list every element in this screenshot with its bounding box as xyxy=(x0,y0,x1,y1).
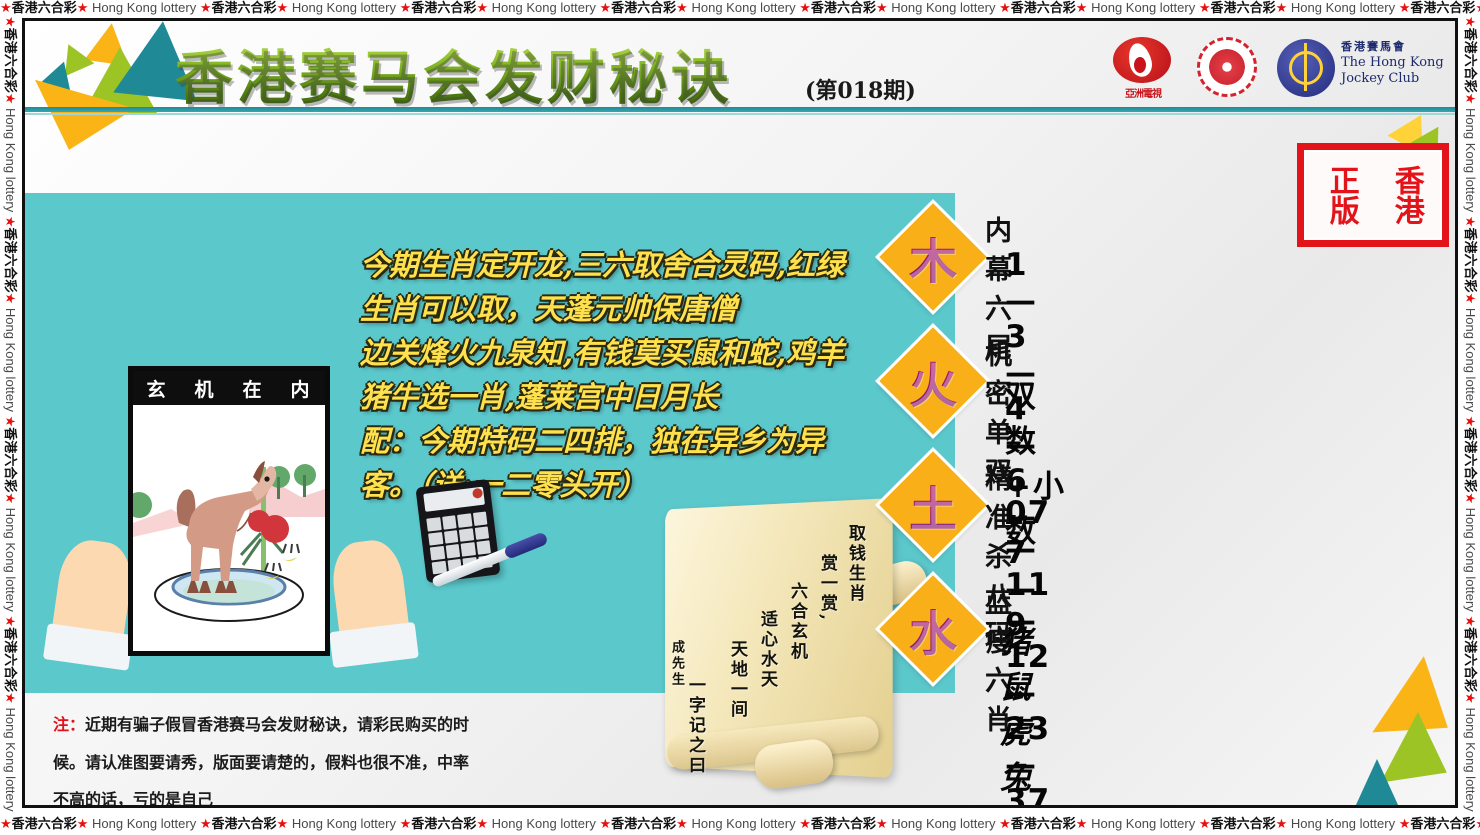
marquee-right-text: ★香港六合彩★ Hong Kong lottery ★香港六合彩★ Hong K… xyxy=(1460,16,1480,813)
scroll-col-3: 六合玄机 xyxy=(785,582,810,662)
seal-text-right: 香港 xyxy=(1373,154,1438,236)
header-rule-light xyxy=(25,113,1455,115)
poem-line-4: 猪牛选一肖,蓬莱宫中日月长 xyxy=(360,375,900,419)
row-value-water: 猪鼠虎兔龙猴 xyxy=(1000,617,1033,808)
element-badge-water: 水 xyxy=(879,575,986,682)
issue-number: (第018期) xyxy=(805,73,916,105)
element-badge-wood-char: 木 xyxy=(895,219,971,295)
atv-logo: 亞洲電視 xyxy=(1105,37,1181,99)
lottery-picture-card[interactable]: 玄 机 在 内 xyxy=(128,366,330,656)
header-rule xyxy=(25,107,1455,112)
poem-line-3: 边关烽火九泉知,有钱莫买鼠和蛇,鸡羊 xyxy=(360,331,900,375)
jockey-club-logo: 香港賽馬會 The Hong Kong Jockey Club xyxy=(1277,37,1447,101)
poem-line-2: 生肖可以取，天蓬元帅保唐僧 xyxy=(360,287,900,331)
element-badge-fire-char: 火 xyxy=(895,343,971,419)
seal-right-chars: 香港 xyxy=(1390,165,1421,225)
seal-left-chars: 正版 xyxy=(1325,165,1356,225)
page-title: 香港赛马会发财秘诀 xyxy=(175,31,733,115)
jockey-club-en2: Jockey Club xyxy=(1341,71,1444,87)
seal-text-left: 正版 xyxy=(1308,154,1373,236)
marquee-right: ★香港六合彩★ Hong Kong lottery ★香港六合彩★ Hong K… xyxy=(1460,16,1480,813)
poster-card: 香港赛马会发财秘诀 (第018期) 亞洲電視 香港賽馬會 xyxy=(22,18,1458,808)
scroll-col-2: 赏一赏, xyxy=(815,554,840,623)
pic-hdr-char-1: 玄 xyxy=(146,375,167,402)
scroll-col-5: 天地一间 xyxy=(725,640,750,720)
element-badge-earth-char: 土 xyxy=(895,467,971,543)
warning-note: 注：近期有骗子假冒香港赛马会发财秘诀，请彩民购买的时 候。请认准图要请秀，版面要… xyxy=(53,707,673,808)
scroll-signature: 成先生 xyxy=(667,640,686,688)
atv-label: 亞洲電視 xyxy=(1105,85,1181,100)
poem-line-5: 配：今期特码二四排，独在异乡为异 xyxy=(360,419,900,463)
marquee-bottom-text: ★香港六合彩★ Hong Kong lottery ★香港六合彩★ Hong K… xyxy=(0,816,1480,831)
marquee-top-text: ★香港六合彩★ Hong Kong lottery ★香港六合彩★ Hong K… xyxy=(0,0,1480,15)
deco-triangle-teal-br xyxy=(1355,759,1399,807)
picture-card-header: 玄 机 在 内 xyxy=(133,371,325,405)
pic-hdr-char-2: 机 xyxy=(194,375,215,402)
horse-drawing-svg xyxy=(133,405,325,651)
authenticity-seal: 正版 香港 xyxy=(1297,143,1449,247)
scroll-col-1: 取钱生肖 xyxy=(843,524,868,604)
marquee-left: ★香港六合彩★ Hong Kong lottery ★香港六合彩★ Hong K… xyxy=(0,16,20,813)
element-badge-wood: 木 xyxy=(879,203,986,310)
note-line-2: 候。请认准图要请秀，版面要请楚的，假料也很不准，中率 xyxy=(53,745,673,783)
jockey-club-text: 香港賽馬會 The Hong Kong Jockey Club xyxy=(1341,41,1444,87)
pic-hdr-char-4: 内 xyxy=(290,375,311,402)
note-prefix: 注： xyxy=(53,717,85,734)
jockey-club-bar-icon xyxy=(1304,43,1307,91)
bauhinia-flower-icon xyxy=(1209,49,1245,85)
pic-hdr-char-3: 在 xyxy=(242,375,263,402)
element-badge-earth: 土 xyxy=(879,451,986,558)
poem-line-1: 今期生肖定开龙,三六取舍合灵码,红绿 xyxy=(360,243,900,287)
scroll-col-4: 适心水天 xyxy=(755,610,780,690)
marquee-left-text: ★香港六合彩★ Hong Kong lottery ★香港六合彩★ Hong K… xyxy=(0,16,20,813)
marquee-bottom: ★香港六合彩★ Hong Kong lottery ★香港六合彩★ Hong K… xyxy=(0,813,1480,835)
note-line-3: 不高的话，亏的是自己 xyxy=(53,782,673,808)
poster-header: 香港赛马会发财秘诀 (第018期) 亞洲電視 香港賽馬會 xyxy=(25,21,1455,113)
element-badge-water-char: 水 xyxy=(895,591,971,667)
scroll-col-6: 一字记之曰 xyxy=(683,676,708,776)
poster-page: ★香港六合彩★ Hong Kong lottery ★香港六合彩★ Hong K… xyxy=(0,0,1480,835)
fortune-poem: 今期生肖定开龙,三六取舍合灵码,红绿 生肖可以取，天蓬元帅保唐僧 边关烽火九泉知… xyxy=(360,243,900,507)
horse-illustration xyxy=(133,405,325,651)
hong-kong-emblem-icon xyxy=(1197,37,1259,99)
marquee-top: ★香港六合彩★ Hong Kong lottery ★香港六合彩★ Hong K… xyxy=(0,0,1480,16)
jockey-club-en1: The Hong Kong xyxy=(1341,55,1444,71)
jockey-club-cn: 香港賽馬會 xyxy=(1341,41,1444,55)
note-text-1: 近期有骗子假冒香港赛马会发财秘诀，请彩民购买的时 xyxy=(85,717,469,734)
element-badge-fire: 火 xyxy=(879,327,986,434)
atv-dot-icon xyxy=(1134,57,1146,73)
note-line-1: 注：近期有骗子假冒香港赛马会发财秘诀，请彩民购买的时 xyxy=(53,707,673,745)
